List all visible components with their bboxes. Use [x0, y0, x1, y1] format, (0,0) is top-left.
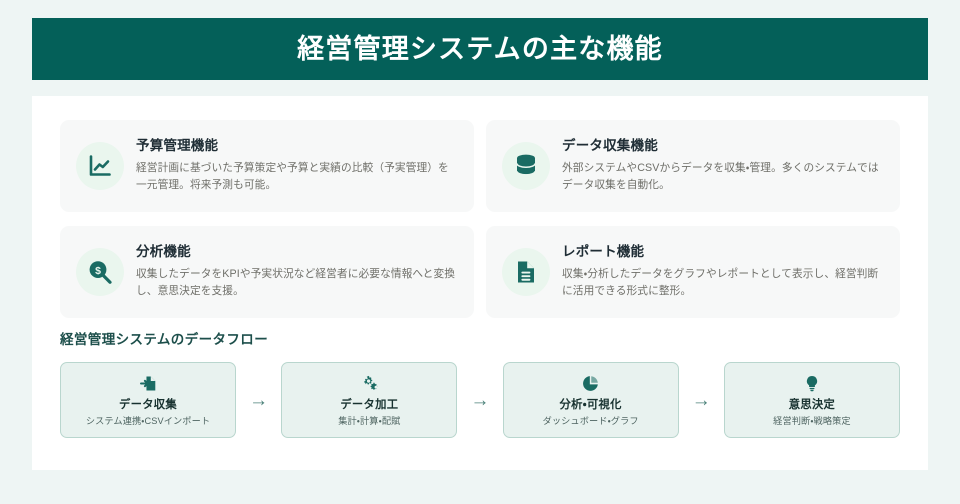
database-icon [514, 153, 538, 179]
card-body: 予算管理機能 経営計画に基づいた予算策定や予算と実績の比較（予実管理）を一元管理… [136, 138, 458, 195]
feature-card-analysis[interactable]: $ 分析機能 収集したデータをKPIや予実状況など経営者に必要な情報へと変換し、… [60, 226, 474, 318]
icon-circle [502, 142, 550, 190]
card-description: 収集したデータをKPIや予実状況など経営者に必要な情報へと変換し、意思決定を支援… [136, 266, 458, 301]
magnifier-dollar-icon: $ [87, 259, 113, 285]
flow-step-data-collection[interactable]: データ収集 システム連携・CSVインポート [60, 362, 236, 438]
flow-step-label: 意思決定 [789, 398, 835, 412]
page-title: 経営管理システムの主な機能 [297, 36, 663, 63]
icon-circle [502, 248, 550, 296]
card-title: データ収集機能 [562, 138, 884, 154]
flow-step-data-processing[interactable]: データ加工 集計・計算・配賦 [281, 362, 457, 438]
flow-step-label: データ加工 [340, 398, 398, 412]
feature-card-data-collection[interactable]: データ収集機能 外部システムやCSVからデータを収集・管理。多くのシステムではデ… [486, 120, 900, 212]
flow-step-label: 分析・可視化 [560, 398, 622, 412]
card-body: 分析機能 収集したデータをKPIや予実状況など経営者に必要な情報へと変換し、意思… [136, 244, 458, 301]
card-description: 外部システムやCSVからデータを収集・管理。多くのシステムではデータ収集を自動化… [562, 160, 884, 195]
infographic-page: 経営管理システムの主な機能 予算管理機能 経営計画に基づいた予算策定や予算と実 [0, 0, 960, 504]
svg-text:$: $ [95, 265, 101, 277]
card-title: 予算管理機能 [136, 138, 458, 154]
icon-circle: $ [76, 248, 124, 296]
flow-step-caption: 集計・計算・配賦 [338, 416, 400, 427]
flow-step-label: データ収集 [119, 398, 177, 412]
header-band: 経営管理システムの主な機能 [32, 18, 928, 80]
flow-step-analysis-visualization[interactable]: 分析・可視化 ダッシュボード・グラフ [503, 362, 679, 438]
data-flow-heading: 経営管理システムのデータフロー [60, 328, 900, 348]
document-icon [515, 259, 537, 285]
chart-line-icon [87, 153, 113, 179]
flow-arrow-2: → [465, 391, 494, 410]
feature-card-report[interactable]: レポート機能 収集・分析したデータをグラフやレポートとして表示し、経営判断に活用… [486, 226, 900, 318]
card-title: 分析機能 [136, 244, 458, 260]
card-title: レポート機能 [562, 244, 884, 260]
flow-arrow-1: → [244, 391, 273, 410]
feature-card-budget[interactable]: 予算管理機能 経営計画に基づいた予算策定や予算と実績の比較（予実管理）を一元管理… [60, 120, 474, 212]
pie-chart-icon [582, 375, 599, 392]
lightbulb-icon [805, 375, 819, 392]
feature-card-grid: 予算管理機能 経営計画に基づいた予算策定や予算と実績の比較（予実管理）を一元管理… [60, 120, 900, 318]
file-import-icon [140, 375, 157, 392]
gears-icon [360, 375, 378, 392]
icon-circle [76, 142, 124, 190]
data-flow-row: データ収集 システム連携・CSVインポート → [60, 362, 900, 438]
flow-step-caption: 経営判断・戦略策定 [773, 416, 851, 427]
flow-step-caption: システム連携・CSVインポート [86, 416, 210, 427]
card-body: データ収集機能 外部システムやCSVからデータを収集・管理。多くのシステムではデ… [562, 138, 884, 195]
data-flow-section: 経営管理システムのデータフロー データ収集 システム連携・CSVインポート [60, 328, 900, 438]
content-panel: 予算管理機能 経営計画に基づいた予算策定や予算と実績の比較（予実管理）を一元管理… [32, 96, 928, 470]
card-body: レポート機能 収集・分析したデータをグラフやレポートとして表示し、経営判断に活用… [562, 244, 884, 301]
flow-step-decision-making[interactable]: 意思決定 経営判断・戦略策定 [724, 362, 900, 438]
card-description: 収集・分析したデータをグラフやレポートとして表示し、経営判断に活用できる形式に整… [562, 266, 884, 301]
flow-arrow-3: → [687, 391, 716, 410]
card-description: 経営計画に基づいた予算策定や予算と実績の比較（予実管理）を一元管理。将来予測も可… [136, 160, 458, 195]
flow-step-caption: ダッシュボード・グラフ [543, 416, 639, 427]
